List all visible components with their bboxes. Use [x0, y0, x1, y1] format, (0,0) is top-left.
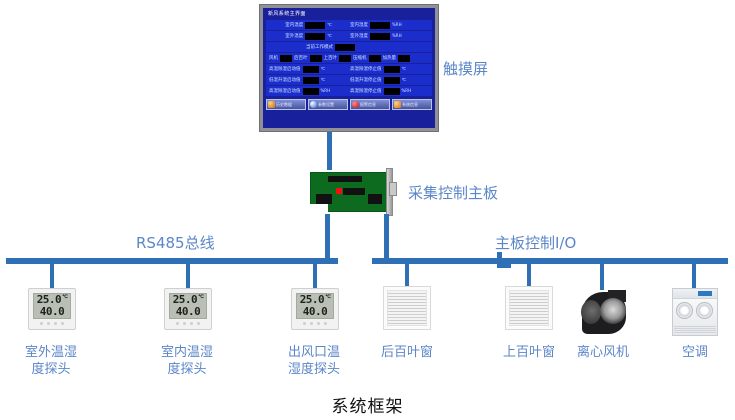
hmi-button-system-label: 系统信息	[402, 102, 418, 107]
hmi-value-outdoor-temp[interactable]	[305, 33, 325, 40]
device-label-indoor-probe-line2: 度探头	[142, 361, 232, 378]
hmi-field-high-hum-dehum-stop[interactable]: 高湿除湿停止值 %RH	[350, 88, 429, 95]
hmi-field-high-temp-dehum-start[interactable]: 高温除湿启动值 ℃	[269, 66, 348, 73]
hmi-value-compressor[interactable]	[369, 55, 381, 62]
history-icon	[268, 101, 275, 108]
hmi-button-alarm[interactable]: 报警信息	[350, 99, 390, 110]
hmi-label-compressor: 压缩机	[353, 56, 367, 61]
device-air-conditioner[interactable]	[672, 288, 718, 336]
ac-fan-left-icon	[676, 302, 693, 319]
hmi-label-low-temp-heat-stop: 低温升温停止值	[350, 78, 382, 83]
io-bus-label: 主板控制I/O	[495, 232, 576, 253]
wire-mainboard-to-io-bus	[384, 214, 389, 262]
drop-upper-louver	[527, 262, 531, 286]
diagram-title: 系统框架	[0, 392, 735, 417]
hmi-value-high-hum-dehum-start[interactable]	[303, 88, 319, 95]
pcb-chip-center	[343, 188, 365, 195]
pcb-chip-right	[368, 194, 382, 204]
hmi-unit-high-temp-dehum-stop: ℃	[402, 67, 407, 71]
hmi-row-high-hum-dehum: 高湿除湿启动值 %RH 高湿除湿停止值 %RH	[266, 86, 432, 96]
hmi-unit-high-temp-dehum-start: ℃	[321, 67, 326, 71]
drop-outdoor-probe	[50, 262, 54, 288]
io-bus-riser-foot	[497, 263, 511, 268]
hmi-value-high-temp-dehum-stop[interactable]	[384, 66, 400, 73]
device-label-outlet-probe-line1: 出风口温	[269, 344, 359, 361]
hmi-row-outdoor: 室外温度 ℃ 室外湿度 %RH	[266, 31, 432, 41]
rs485-bus-line	[6, 258, 338, 264]
pcb-chip-left	[316, 194, 332, 204]
hmi-unit-indoor-temp: ℃	[327, 23, 332, 27]
hmi-unit-outdoor-temp: ℃	[327, 34, 332, 38]
device-label-rear-louver: 后百叶窗	[362, 344, 452, 361]
hmi-button-settings-label: 参数设置	[318, 102, 334, 107]
hmi-value-work-mode[interactable]	[335, 44, 355, 51]
outdoor-probe-hum-value: 40.0	[40, 306, 65, 318]
hmi-value-high-hum-dehum-stop[interactable]	[384, 88, 400, 95]
device-rear-louver[interactable]	[383, 286, 431, 330]
alarm-icon	[352, 101, 359, 108]
device-outdoor-probe[interactable]: 25.0 ℃ 40.0	[28, 288, 76, 330]
hmi-touch-panel[interactable]: 新风系统主界面 室内温度 ℃ 室内湿度 %RH	[259, 4, 439, 132]
outlet-probe-hum-value: 40.0	[303, 306, 328, 318]
device-label-blower: 离心风机	[558, 344, 648, 361]
hmi-unit-high-hum-dehum-stop: %RH	[402, 89, 412, 93]
outlet-probe-lcd: 25.0 ℃ 40.0	[296, 293, 334, 319]
hmi-field-high-hum-dehum-start[interactable]: 高湿除湿启动值 %RH	[269, 88, 348, 95]
outlet-probe-vents	[296, 322, 334, 325]
device-label-indoor-probe: 室内温湿 度探头	[142, 344, 232, 378]
hmi-label-high-hum-dehum-stop: 高湿除湿停止值	[350, 89, 382, 94]
hmi-value-indoor-temp[interactable]	[305, 22, 325, 29]
drop-indoor-probe	[186, 262, 190, 288]
hmi-unit-low-temp-heat-stop: ℃	[402, 78, 407, 82]
hmi-row-high-temp-dehum: 高温除湿启动值 ℃ 高温除湿停止值 ℃	[266, 64, 432, 74]
hmi-screen-title: 新风系统主界面	[266, 10, 432, 19]
hmi-row-actuators: 风机 后百叶 上百叶 压缩机 加热量	[266, 53, 432, 63]
hmi-field-outdoor-temp[interactable]: 室外温度 ℃	[269, 33, 348, 40]
hmi-value-outdoor-hum[interactable]	[370, 33, 390, 40]
hmi-button-history-label: 历史数据	[276, 102, 292, 107]
hmi-label-fan: 风机	[269, 56, 278, 61]
hmi-value-indoor-hum[interactable]	[370, 22, 390, 29]
indoor-probe-lcd-hum-line: 40.0	[176, 306, 201, 318]
device-indoor-probe[interactable]: 25.0 ℃ 40.0	[164, 288, 212, 330]
hmi-field-indoor-temp[interactable]: 室内温度 ℃	[269, 22, 348, 29]
indoor-probe-lcd: 25.0 ℃ 40.0	[169, 293, 207, 319]
device-label-outlet-probe-line2: 湿度探头	[269, 361, 359, 378]
device-label-outdoor-probe-line2: 度探头	[6, 361, 96, 378]
wire-mainboard-to-rs485-bus	[325, 214, 330, 262]
hmi-label-upper-louver: 上百叶	[324, 56, 338, 61]
device-label-ac: 空调	[650, 344, 735, 361]
indoor-probe-temp-unit: ℃	[198, 294, 203, 300]
hmi-label-work-mode: 当前工作模式	[306, 45, 333, 50]
hmi-label-high-temp-dehum-start: 高温除湿启动值	[269, 67, 301, 72]
hmi-label-low-temp-heat-start: 低温升温启动值	[269, 78, 301, 83]
hmi-value-rear-louver[interactable]	[310, 55, 322, 62]
hmi-value-heating[interactable]	[398, 55, 410, 62]
indoor-probe-vents	[169, 322, 207, 325]
drop-blower	[600, 262, 604, 290]
outdoor-probe-lcd: 25.0 ℃ 40.0	[33, 293, 71, 319]
hmi-label-heating: 加热量	[383, 56, 397, 61]
hmi-value-high-temp-dehum-start[interactable]	[303, 66, 319, 73]
hmi-value-upper-louver[interactable]	[339, 55, 351, 62]
hmi-screen: 新风系统主界面 室内温度 ℃ 室内湿度 %RH	[263, 8, 435, 128]
device-outlet-probe[interactable]: 25.0 ℃ 40.0	[291, 288, 339, 330]
outdoor-probe-temp-unit: ℃	[62, 294, 67, 300]
hmi-label-outdoor-temp: 室外温度	[285, 34, 303, 39]
hmi-label-high-hum-dehum-start: 高湿除湿启动值	[269, 89, 301, 94]
hmi-button-alarm-label: 报警信息	[360, 102, 376, 107]
rear-louver-slats	[387, 290, 427, 326]
hmi-label-high-temp-dehum-stop: 高温除湿停止值	[350, 67, 382, 72]
outdoor-probe-lcd-hum-line: 40.0	[40, 306, 65, 318]
pcb-notch	[310, 204, 328, 212]
device-label-outdoor-probe: 室外温湿 度探头	[6, 344, 96, 378]
system-framework-diagram: 新风系统主界面 室内温度 ℃ 室内湿度 %RH	[0, 0, 735, 420]
hmi-field-high-temp-dehum-stop[interactable]: 高温除湿停止值 ℃	[350, 66, 429, 73]
pcb-connector-port[interactable]	[389, 182, 397, 196]
hmi-label-indoor-hum: 室内湿度	[350, 23, 368, 28]
device-label-indoor-probe-line1: 室内温湿	[142, 344, 232, 361]
hmi-value-fan[interactable]	[280, 55, 292, 62]
hmi-panel-label: 触摸屏	[443, 58, 488, 79]
hmi-label-indoor-temp: 室内温度	[285, 23, 303, 28]
device-label-outdoor-probe-line1: 室外温湿	[6, 344, 96, 361]
hmi-button-system[interactable]: 系统信息	[392, 99, 432, 110]
wire-hmi-to-mainboard	[327, 132, 332, 170]
hmi-value-low-temp-heat-stop[interactable]	[384, 77, 400, 84]
pcb-status-led	[336, 188, 342, 194]
indoor-probe-hum-value: 40.0	[176, 306, 201, 318]
outdoor-probe-vents	[33, 322, 71, 325]
mainboard-label: 采集控制主板	[408, 182, 498, 203]
hmi-unit-low-temp-heat-start: ℃	[321, 78, 326, 82]
hmi-field-outdoor-hum[interactable]: 室外湿度 %RH	[350, 33, 429, 40]
hmi-field-low-temp-heat-stop[interactable]: 低温升温停止值 ℃	[350, 77, 429, 84]
hmi-unit-indoor-hum: %RH	[392, 23, 402, 27]
blower-inlet	[600, 298, 626, 324]
drop-rear-louver	[405, 262, 409, 286]
hmi-label-outdoor-hum: 室外湿度	[350, 34, 368, 39]
ac-fan-right-icon	[696, 302, 713, 319]
system-icon	[394, 101, 401, 108]
rs485-bus-label: RS485总线	[136, 232, 215, 253]
hmi-unit-high-hum-dehum-start: %RH	[321, 89, 331, 93]
device-upper-louver[interactable]	[505, 286, 553, 330]
drop-ac	[692, 262, 696, 288]
device-label-outlet-probe: 出风口温 湿度探头	[269, 344, 359, 378]
upper-louver-slats	[509, 290, 549, 326]
ac-grille	[674, 325, 716, 334]
hmi-button-settings[interactable]: 参数设置	[308, 99, 348, 110]
hmi-button-history[interactable]: 历史数据	[266, 99, 306, 110]
outlet-probe-temp-unit: ℃	[325, 294, 330, 300]
hmi-row-work-mode: 当前工作模式	[266, 42, 432, 52]
outlet-probe-lcd-hum-line: 40.0	[303, 306, 328, 318]
io-bus-line	[372, 258, 728, 264]
hmi-unit-outdoor-hum: %RH	[392, 34, 402, 38]
ac-brand-badge	[698, 291, 712, 296]
hmi-label-rear-louver: 后百叶	[294, 56, 308, 61]
hmi-field-indoor-hum[interactable]: 室内湿度 %RH	[350, 22, 429, 29]
hmi-row-low-temp-heat: 低温升温启动值 ℃ 低温升温停止值 ℃	[266, 75, 432, 85]
mainboard-pcb[interactable]	[310, 168, 398, 216]
hmi-button-bar: 历史数据 参数设置 报警信息 系统信息	[266, 98, 432, 110]
pcb-chip-top	[328, 176, 362, 182]
device-centrifugal-blower[interactable]	[578, 290, 630, 336]
drop-outlet-probe	[313, 262, 317, 288]
hmi-row-indoor: 室内温度 ℃ 室内湿度 %RH	[266, 20, 432, 30]
hmi-field-low-temp-heat-start[interactable]: 低温升温启动值 ℃	[269, 77, 348, 84]
settings-icon	[310, 101, 317, 108]
blower-side-plate	[581, 300, 601, 324]
hmi-value-low-temp-heat-start[interactable]	[303, 77, 319, 84]
